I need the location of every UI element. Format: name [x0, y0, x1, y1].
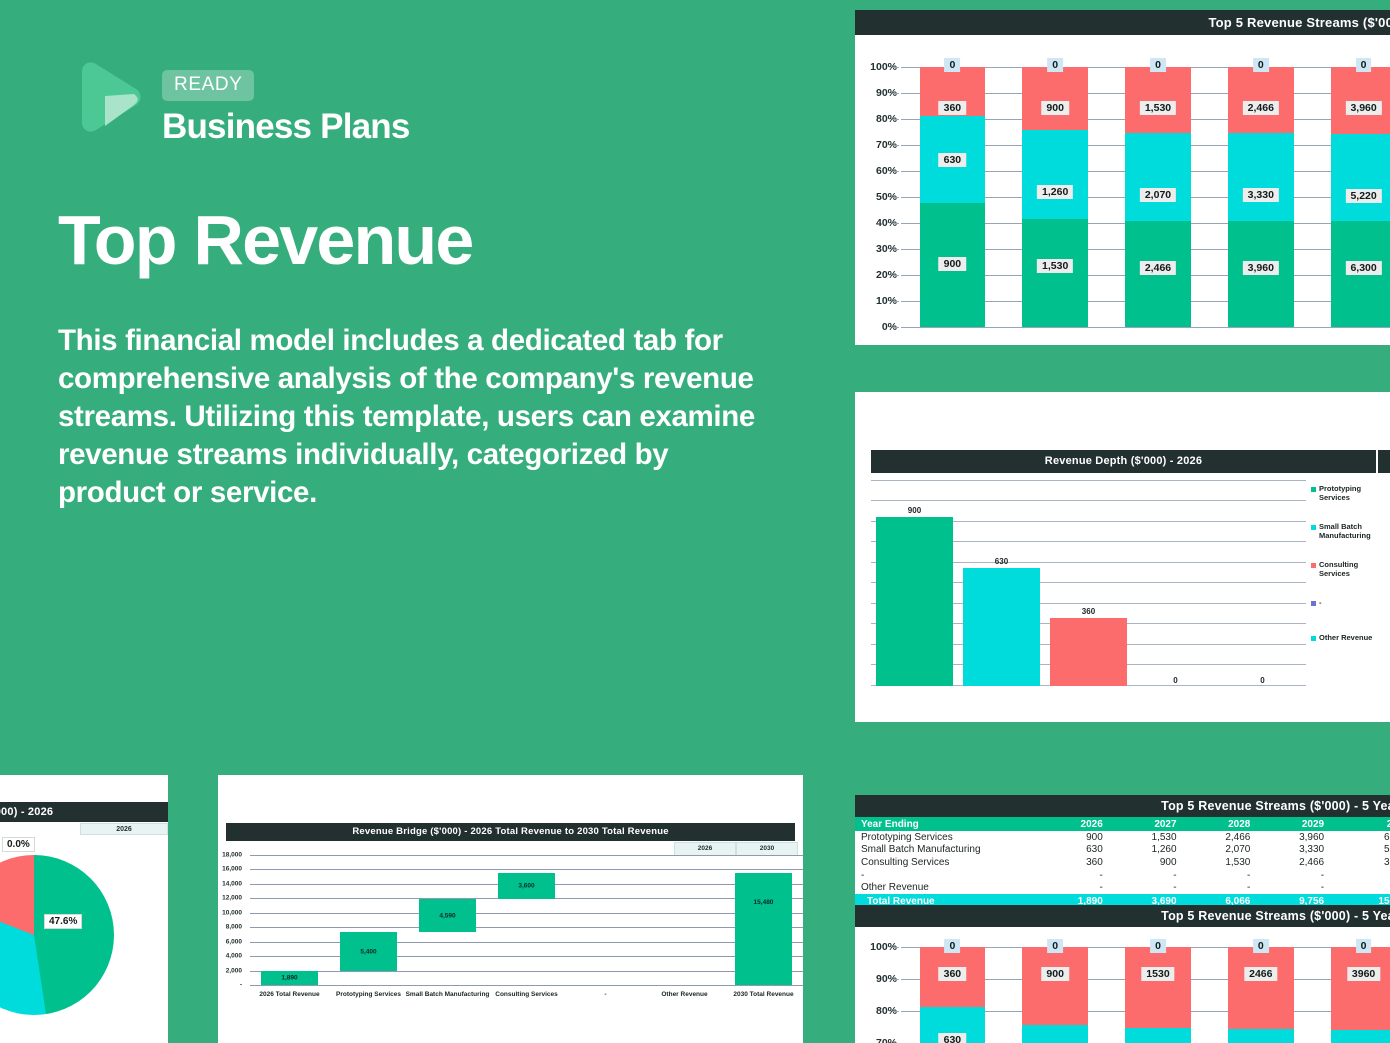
cell: -	[1109, 881, 1183, 894]
legend-item-consulting[interactable]: Consulting Services	[1311, 560, 1390, 578]
legend-label: Consulting Services	[1319, 560, 1381, 578]
segment-label-consulting: 2,466	[1243, 101, 1279, 115]
segment-label-consulting: 1530	[1141, 967, 1174, 981]
table-header-row: Year Ending 2026 2027 2028 2029 2030	[855, 817, 1390, 831]
table-header-2028: 2028	[1183, 817, 1257, 831]
segment-consulting: 0 900	[1022, 947, 1088, 1025]
segment-small-batch: 5,220	[1331, 134, 1390, 222]
segment-label-other: 0	[1253, 939, 1269, 953]
y-tick: 6,000	[226, 938, 242, 945]
y-tick: 8,000	[226, 924, 242, 931]
ready-badge: READY	[162, 70, 254, 101]
segment-label-other: 0	[1047, 939, 1063, 953]
bar-group: 1,890 5,400 4,590 3,600	[250, 855, 803, 985]
cell: -	[1330, 881, 1390, 894]
bar-value-label: 15,480	[754, 899, 774, 906]
bar-slot-2027[interactable]: 0 900	[1004, 947, 1107, 1043]
slide-canvas: READY Business Plans Top Revenue This fi…	[0, 0, 1390, 1043]
page-title: Top Revenue	[58, 205, 473, 275]
depth-bar-prototyping[interactable]: 900	[871, 480, 958, 686]
card-top-5-revenue-streams-stacked: Top 5 Revenue Streams ($'000) 100% 90% 8…	[855, 10, 1390, 345]
segment-label-small-batch: 630	[939, 1033, 967, 1043]
legend-item-small-batch[interactable]: Small Batch Manufacturing	[1311, 522, 1390, 540]
chart-title: Revenue Depth ($'000) - 2026	[871, 450, 1376, 473]
bar-value-label: 1,890	[281, 975, 297, 982]
play-triangle-icon	[72, 58, 144, 136]
wf-bar-other-revenue[interactable]	[645, 855, 724, 985]
segment-label-prototyping: 1,530	[1037, 259, 1073, 273]
depth-bar-small-batch[interactable]: 630	[958, 480, 1045, 686]
bar-slot-2030[interactable]: 0 3960	[1312, 947, 1390, 1043]
segment-label-other: 0	[944, 58, 960, 72]
segment-consulting: 0 2,466	[1228, 67, 1294, 133]
pie-chart[interactable]	[0, 855, 114, 1015]
card-revenue-bridge: Revenue Bridge ($'000) - 2026 Total Reve…	[218, 775, 803, 1043]
segment-consulting: 0 3,960	[1331, 67, 1390, 134]
segment-label-other: 0	[1150, 939, 1166, 953]
bar-value-label: 0	[1260, 676, 1264, 685]
card-revenue-table: Top 5 Revenue Streams ($'000) - 5 Years …	[855, 795, 1390, 910]
depth-chart-plot: 900 630 360 0	[871, 480, 1306, 686]
x-tick: Prototyping Services	[336, 991, 401, 998]
cell: -	[1256, 881, 1330, 894]
segment-label-consulting: 360	[939, 967, 967, 981]
segment-small-batch: 630	[920, 116, 986, 203]
bar-value-label: 5,400	[360, 948, 376, 955]
cell: -	[1183, 881, 1257, 894]
segment-label-small-batch: 3,330	[1243, 188, 1279, 202]
cell: -	[1035, 881, 1109, 894]
page-description: This financial model includes a dedicate…	[58, 322, 758, 512]
bar-slot-2028[interactable]: 0 1530	[1107, 947, 1210, 1043]
cell: 2,466	[1256, 856, 1330, 869]
segment-label-prototyping: 6,300	[1345, 261, 1381, 275]
brand-name: Business Plans	[162, 107, 410, 147]
wf-bar-prototyping[interactable]: 5,400	[329, 855, 408, 985]
cell: -	[1183, 869, 1257, 882]
x-tick: Other Revenue	[661, 991, 707, 998]
segment-prototyping: 900	[920, 203, 986, 327]
cell: -	[1330, 869, 1390, 882]
bar-value-label: 3,600	[518, 883, 534, 890]
cell: 5,220	[1330, 844, 1390, 857]
segment-label-other: 0	[1356, 939, 1372, 953]
segment-prototyping: 1,530	[1022, 219, 1088, 327]
bar-value-label: 630	[995, 557, 1008, 566]
legend-swatch-icon	[1311, 525, 1316, 530]
pie-label-prototyping: 47.6%	[44, 914, 82, 929]
segment-prototyping: 3,960	[1228, 221, 1294, 327]
wf-bar-small-batch[interactable]: 4,590	[408, 855, 487, 985]
cell: -	[1109, 869, 1183, 882]
legend-swatch-icon	[1311, 636, 1316, 641]
segment-consulting: 0 2466	[1228, 947, 1294, 1029]
bar-value-label: 900	[908, 506, 921, 515]
cell: 630	[1035, 844, 1109, 857]
y-tick: -	[240, 982, 242, 989]
card-run-rate-pie: Run-Rate ($'000) - 2026 2026 0.0% 0.0% 1…	[0, 775, 168, 1043]
segment-label-consulting: 900	[1041, 967, 1069, 981]
cell: 2,466	[1183, 831, 1257, 844]
segment-label-prototyping: 3,960	[1243, 261, 1279, 275]
depth-bar-other-revenue[interactable]: 0	[1219, 480, 1306, 686]
cell: 3,960	[1330, 856, 1390, 869]
bar-slot-2028[interactable]: 0 1,530 2,070 2,466	[1107, 67, 1210, 327]
depth-bar-blank[interactable]: 0	[1132, 480, 1219, 686]
segment-small-batch: 630	[920, 1007, 986, 1043]
segment-small-batch	[1022, 1025, 1088, 1043]
card-revenue-depth: Revenue Depth ($'000) - 2026 900	[855, 392, 1390, 722]
y-tick: 12,000	[222, 895, 242, 902]
revenue-table: Year Ending 2026 2027 2028 2029 2030 Pro…	[855, 817, 1390, 909]
y-axis: 18,000 16,000 14,000 12,000 10,000 8,000…	[218, 855, 246, 985]
table-header-row-label: Year Ending	[855, 817, 1035, 831]
stacked-chart-plot: 100% 90% 80% 70% 60% 50% 40% 30% 20% 10%…	[855, 42, 1390, 342]
cell: 3,330	[1256, 844, 1330, 857]
cell: 3,960	[1256, 831, 1330, 844]
y-tick: 18,000	[222, 852, 242, 859]
bar-slot-2027[interactable]: 0 900 1,260 1,530	[1004, 67, 1107, 327]
cell: 6,300	[1330, 831, 1390, 844]
segment-label-small-batch: 2,070	[1140, 188, 1176, 202]
segment-label-other: 0	[1150, 58, 1166, 72]
segment-consulting: 0 900	[1022, 67, 1088, 130]
legend-swatch-icon	[1311, 487, 1316, 492]
waterfall-plot: 1,890 5,400 4,590 3,600	[250, 855, 803, 985]
segment-label-consulting: 900	[1041, 101, 1069, 115]
segment-small-batch: 3,330	[1228, 133, 1294, 222]
segment-label-other: 0	[1047, 58, 1063, 72]
table-row: Consulting Services 360 900 1,530 2,466 …	[855, 856, 1390, 869]
cell: 900	[1035, 831, 1109, 844]
segment-label-consulting: 1,530	[1140, 101, 1176, 115]
y-axis: 100% 90% 80% 70% 60% 50% 40% 30% 20% 10%…	[855, 42, 901, 342]
table-header-2026: 2026	[1035, 817, 1109, 831]
legend-item-other-revenue[interactable]: Other Revenue	[1311, 633, 1390, 642]
table-header-2029: 2029	[1256, 817, 1330, 831]
bar-group: 0 360 630 900 0	[901, 67, 1390, 327]
segment-small-batch: 1,260	[1022, 130, 1088, 219]
y-axis: 100% 90% 80% 70%	[855, 933, 901, 1043]
segment-label-other: 0	[944, 939, 960, 953]
brand-text: READY Business Plans	[162, 58, 410, 147]
x-axis-labels: 2026 Total Revenue Prototyping Services …	[250, 991, 803, 1003]
chart-title: Run-Rate ($'000) - 2026	[0, 802, 168, 822]
row-label: -	[855, 869, 1035, 882]
table-header-2027: 2027	[1109, 817, 1183, 831]
y-tick: 14,000	[222, 880, 242, 887]
pie-label-other: 0.0%	[2, 837, 35, 852]
x-tick: Small Batch Manufacturing	[406, 991, 490, 998]
legend-swatch-icon	[1311, 563, 1316, 568]
bar-value-label: 360	[1082, 607, 1095, 616]
pie-year-header: 2026	[80, 823, 168, 835]
bridge-year-headers: 2026 2030	[674, 842, 798, 856]
cell: -	[1256, 869, 1330, 882]
x-tick: -	[604, 991, 606, 998]
title-bar-extension	[1376, 450, 1390, 473]
segment-consulting: 0 360	[920, 947, 986, 1007]
segment-label-other: 0	[1356, 58, 1372, 72]
card-bottom-stacked: Top 5 Revenue Streams ($'000) - 5 Years …	[855, 905, 1390, 1043]
segment-small-batch	[1125, 1028, 1191, 1043]
segment-label-small-batch: 5,220	[1345, 189, 1381, 203]
x-tick: Consulting Services	[495, 991, 558, 998]
segment-small-batch: 2,070	[1125, 133, 1191, 222]
wf-bar-blank[interactable]	[566, 855, 645, 985]
legend-label: -	[1319, 598, 1381, 607]
segment-label-prototyping: 900	[939, 257, 967, 271]
legend-item-prototyping[interactable]: Prototyping Services	[1311, 484, 1390, 502]
table-header-2030: 2030	[1330, 817, 1390, 831]
cell: 1,260	[1109, 844, 1183, 857]
chart-title: Top 5 Revenue Streams ($'000)	[855, 10, 1390, 35]
table-title: Top 5 Revenue Streams ($'000) - 5 Years	[855, 795, 1390, 817]
bar-slot-2026[interactable]: 0 360 630 900	[901, 67, 1004, 327]
legend-label: Small Batch Manufacturing	[1319, 522, 1381, 540]
table-row: - - - - - -	[855, 869, 1390, 882]
bridge-col-2026: 2026	[674, 842, 736, 856]
segment-label-other: 0	[1253, 58, 1269, 72]
segment-small-batch	[1228, 1029, 1294, 1043]
bar-group: 0 360 630 0 900	[901, 947, 1390, 1043]
row-label: Other Revenue	[855, 881, 1035, 894]
cell: 2,070	[1183, 844, 1257, 857]
cell: -	[1035, 869, 1109, 882]
segment-prototyping: 6,300	[1331, 221, 1390, 327]
y-tick: 2,000	[226, 967, 242, 974]
chart-legend: Prototyping Services Small Batch Manufac…	[1311, 484, 1390, 654]
stacked-chart-plot-bottom: 100% 90% 80% 70% 0 360	[855, 933, 1390, 1043]
cell: 900	[1109, 856, 1183, 869]
legend-label: Other Revenue	[1319, 633, 1381, 642]
row-label: Small Batch Manufacturing	[855, 844, 1035, 857]
cell: 1,530	[1109, 831, 1183, 844]
table-row: Prototyping Services 900 1,530 2,466 3,9…	[855, 831, 1390, 844]
segment-label-small-batch: 630	[939, 153, 967, 167]
legend-item-blank[interactable]: -	[1311, 598, 1390, 607]
segment-label-prototyping: 2,466	[1140, 261, 1176, 275]
segment-label-consulting: 3,960	[1345, 101, 1381, 115]
table-row: Small Batch Manufacturing 630 1,260 2,07…	[855, 844, 1390, 857]
x-tick: 2026 Total Revenue	[259, 991, 319, 998]
chart-title: Top 5 Revenue Streams ($'000) - 5 Years	[855, 905, 1390, 927]
row-label: Prototyping Services	[855, 831, 1035, 844]
segment-label-consulting: 2466	[1244, 967, 1277, 981]
segment-consulting: 0 3960	[1331, 947, 1390, 1030]
x-tick: 2030 Total Revenue	[733, 991, 793, 998]
bar-slot-2029[interactable]: 0 2466	[1209, 947, 1312, 1043]
bar-slot-2026[interactable]: 0 360 630	[901, 947, 1004, 1043]
y-tick: 4,000	[226, 953, 242, 960]
bar-slot-2029[interactable]: 0 2,466 3,330 3,960	[1209, 67, 1312, 327]
chart-title: Revenue Bridge ($'000) - 2026 Total Reve…	[226, 823, 795, 841]
segment-consulting: 0 1530	[1125, 947, 1191, 1028]
row-label: Consulting Services	[855, 856, 1035, 869]
segment-label-consulting: 3960	[1347, 967, 1380, 981]
bar-value-label: 4,590	[439, 912, 455, 919]
brand-lockup: READY Business Plans	[72, 58, 410, 147]
bar-slot-2030[interactable]: 0 3,960 5,220 6,300	[1312, 67, 1390, 327]
segment-small-batch	[1331, 1030, 1390, 1043]
cell: 360	[1035, 856, 1109, 869]
bridge-col-2030: 2030	[736, 842, 798, 856]
wf-bar-2026-total[interactable]: 1,890	[250, 855, 329, 985]
depth-bar-consulting[interactable]: 360	[1045, 480, 1132, 686]
segment-label-small-batch: 1,260	[1037, 185, 1073, 199]
cell: 1,530	[1183, 856, 1257, 869]
y-tick: 10,000	[222, 909, 242, 916]
segment-consulting: 0 360	[920, 67, 986, 116]
legend-swatch-icon	[1311, 601, 1316, 606]
wf-bar-2030-total[interactable]: 15,480	[724, 855, 803, 985]
segment-label-consulting: 360	[939, 101, 967, 115]
legend-label: Prototyping Services	[1319, 484, 1381, 502]
bar-value-label: 0	[1173, 676, 1177, 685]
table-row: Other Revenue - - - - -	[855, 881, 1390, 894]
y-tick: 16,000	[222, 866, 242, 873]
bar-group: 900 630 360 0	[871, 480, 1306, 686]
wf-bar-consulting[interactable]: 3,600	[487, 855, 566, 985]
segment-prototyping: 2,466	[1125, 221, 1191, 327]
segment-consulting: 0 1,530	[1125, 67, 1191, 133]
